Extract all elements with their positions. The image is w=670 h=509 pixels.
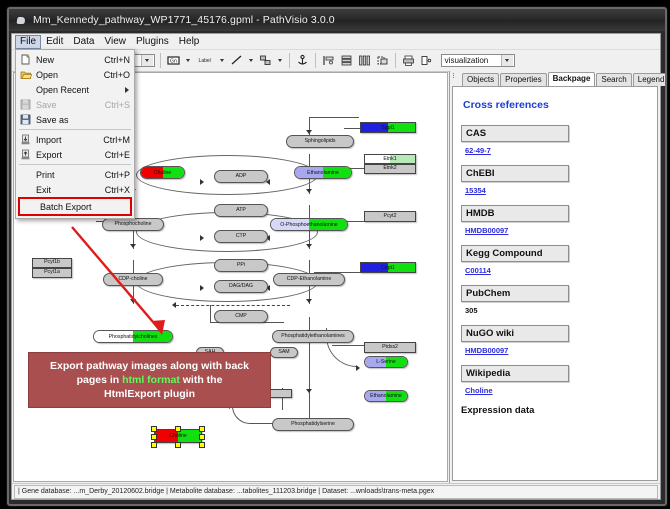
xref-source-hmdb: HMDB	[461, 205, 569, 222]
node-label: Sphingolipids	[305, 139, 336, 144]
menu-item-label: Open Recent	[33, 85, 125, 95]
node-label: ADP	[236, 174, 247, 179]
menu-item-import[interactable]: Import Ctrl+M	[16, 132, 134, 147]
svg-text:Gn: Gn	[170, 59, 177, 65]
shape-icon[interactable]	[258, 53, 273, 68]
node-label: CMP	[235, 314, 247, 319]
menu-item-label: Batch Export	[37, 202, 128, 212]
xref-value-kegg[interactable]: C00114	[465, 266, 649, 275]
xref-source-kegg: Kegg Compound	[461, 245, 569, 262]
node-label: Cept1	[361, 263, 415, 272]
stack-icon[interactable]	[339, 53, 354, 68]
menu-separator	[19, 164, 131, 165]
menu-item-label: Export	[33, 150, 99, 160]
menu-item-new[interactable]: New Ctrl+N	[16, 52, 134, 67]
xref-link-hmdb[interactable]: HMDB00097	[465, 226, 508, 235]
import-icon	[18, 133, 33, 146]
node-choline[interactable]: Choline	[140, 166, 185, 179]
annotation-callout: Export pathway images along with back pa…	[28, 352, 271, 408]
menu-file[interactable]: File	[15, 35, 41, 49]
menu-item-label: Print	[33, 170, 99, 180]
menu-item-open-recent[interactable]: Open Recent	[16, 82, 134, 97]
menu-item-accel: Ctrl+S	[99, 100, 130, 110]
node-label: Pcyt1a	[44, 270, 60, 275]
xref-link-cas[interactable]: 62-49-7	[465, 146, 491, 155]
callout-line-2-post: with the	[180, 374, 223, 386]
node-label: ATP	[236, 208, 246, 213]
distribute-icon[interactable]	[357, 53, 372, 68]
tab-objects[interactable]: Objects	[462, 73, 499, 86]
node-o-phosphoethanolamine[interactable]: O-Phosphoethanolamine	[270, 218, 348, 231]
toolbar-separator	[160, 53, 161, 68]
node-l-serine[interactable]: L-Serine	[364, 356, 408, 368]
visualization-value: visualization	[445, 56, 489, 65]
xref-link-nugo[interactable]: HMDB00097	[465, 346, 508, 355]
xref-value-hmdb[interactable]: HMDB00097	[465, 226, 649, 235]
node-ctp[interactable]: CTP	[214, 230, 268, 243]
menu-help[interactable]: Help	[174, 35, 205, 49]
callout-line-2: pages in html format with the	[77, 373, 223, 387]
node-pcyt2[interactable]: Pcyt2	[364, 211, 416, 222]
menu-item-export[interactable]: Export Ctrl+E	[16, 147, 134, 162]
tab-properties[interactable]: Properties	[500, 73, 546, 86]
node-label: Phosphatidylethanolamines	[281, 334, 344, 339]
xref-source-nugo: NuGO wiki	[461, 325, 569, 342]
menu-view[interactable]: View	[99, 35, 131, 49]
node-cdp-ethanolamine[interactable]: CDP-Ethanolamine	[273, 273, 345, 286]
window-title: Mm_Kennedy_pathway_WP1771_45176.gpml - P…	[33, 14, 335, 26]
menu-item-batch-export[interactable]: Batch Export	[18, 197, 132, 216]
menu-edit[interactable]: Edit	[41, 35, 68, 49]
node-grey-marker[interactable]	[270, 389, 292, 398]
align-icon[interactable]	[321, 53, 336, 68]
callout-line-3: HtmlExport plugin	[104, 387, 195, 401]
menu-separator	[19, 129, 131, 130]
node-dag[interactable]: DAG/DAG	[214, 280, 268, 293]
node-sam[interactable]: SAM	[270, 347, 298, 358]
visualization-combobox[interactable]: visualization	[441, 54, 515, 67]
toolbar-separator	[289, 53, 290, 68]
node-ethanolamine-bottom[interactable]: Ethanolamine	[364, 390, 408, 402]
node-ptdss2[interactable]: Ptdss2	[364, 342, 416, 353]
window-titlebar: Mm_Kennedy_pathway_WP1771_45176.gpml - P…	[9, 9, 665, 31]
statusbar-text: | Gene database: ...m_Derby_20120602.bri…	[14, 485, 658, 499]
panel-grip[interactable]	[453, 72, 458, 83]
print-toolbar-icon[interactable]	[401, 53, 416, 68]
node-label: Phosphatidylserine	[291, 422, 335, 427]
selection-handle	[151, 442, 157, 448]
menu-item-open[interactable]: Open Ctrl+O	[16, 67, 134, 82]
menu-item-accel: Ctrl+E	[99, 150, 130, 160]
exit-icon	[18, 183, 33, 196]
application-body: File Edit Data View Plugins Help Zoom: 1…	[11, 33, 661, 500]
chevron-down-icon	[141, 55, 153, 66]
node-label: Sgpl1	[361, 123, 415, 132]
datanode-icon[interactable]: Gn	[166, 53, 181, 68]
callout-line-1: Export pathway images along with back	[50, 359, 249, 373]
file-menu-dropdown[interactable]: New Ctrl+N Open Ctrl+O Open Recent	[15, 49, 135, 219]
node-etnk1[interactable]: Etnk1	[364, 154, 416, 164]
node-label: Etnk2	[383, 166, 396, 171]
menu-data[interactable]: Data	[68, 35, 99, 49]
chevron-down-icon	[501, 55, 513, 66]
expression-data-heading: Expression data	[461, 405, 649, 416]
node-choline-selected[interactable]: Choline	[154, 429, 202, 443]
xref-value-pubchem: 305	[465, 306, 649, 315]
application-window: Mm_Kennedy_pathway_WP1771_45176.gpml - P…	[7, 7, 667, 506]
xref-source-chebi: ChEBI	[461, 165, 569, 182]
xref-link-kegg[interactable]: C00114	[465, 266, 491, 275]
node-label: PPi	[237, 263, 245, 268]
node-label: Etnk1	[365, 155, 415, 163]
menu-plugins[interactable]: Plugins	[131, 35, 174, 49]
shape-dropdown-icon[interactable]	[276, 53, 284, 68]
menu-item-exit[interactable]: Exit Ctrl+X	[16, 182, 134, 197]
menu-item-label: Save	[33, 100, 99, 110]
blank-icon	[22, 200, 37, 213]
node-label: Ethanolamine	[365, 391, 407, 401]
toolbar-separator	[395, 53, 396, 68]
menu-item-save-as[interactable]: Save as	[16, 112, 134, 127]
menu-item-accel: Ctrl+X	[99, 185, 130, 195]
label-icon[interactable]: Label	[195, 53, 215, 68]
legend-icon[interactable]	[419, 53, 434, 68]
side-panel: Objects Properties Backpage Search Legen…	[449, 71, 660, 483]
xref-source-cas: CAS	[461, 125, 569, 142]
backpage-content: Cross references CAS 62-49-7 ChEBI 15354…	[452, 86, 658, 481]
line-dropdown-icon[interactable]	[247, 53, 255, 68]
xref-source-wikipedia: Wikipedia	[461, 365, 569, 382]
export-icon	[18, 148, 33, 161]
chevron-right-icon	[125, 87, 129, 93]
annotation-arrow	[66, 221, 176, 346]
node-sphingolipids[interactable]: Sphingolipids	[286, 135, 354, 148]
print-icon	[18, 168, 33, 181]
side-panel-tabstrip: Objects Properties Backpage Search Legen…	[450, 71, 660, 86]
xref-value-cas[interactable]: 62-49-7	[465, 146, 649, 155]
node-atp[interactable]: ATP	[214, 204, 268, 217]
node-etnk2[interactable]: Etnk2	[364, 164, 416, 174]
node-label: CDP-Ethanolamine	[287, 277, 331, 282]
menu-item-accel: Ctrl+O	[98, 70, 130, 80]
node-ppi[interactable]: PPi	[214, 259, 268, 272]
xref-link-wikipedia[interactable]: Choline	[465, 386, 493, 395]
toolbar-separator	[315, 53, 316, 68]
tab-backpage[interactable]: Backpage	[548, 72, 596, 86]
blank-icon	[18, 83, 33, 96]
node-label: Ptdss2	[382, 345, 398, 350]
node-ethanolamine-top[interactable]: Ethanolamine	[294, 166, 352, 179]
node-label: Ethanolamine	[295, 167, 351, 178]
screenshot-root: Mm_Kennedy_pathway_WP1771_45176.gpml - P…	[0, 0, 670, 509]
node-phosphatidylethanolamines[interactable]: Phosphatidylethanolamines	[272, 330, 354, 343]
xref-value-wikipedia[interactable]: Choline	[465, 386, 649, 395]
menu-item-label: Import	[33, 135, 97, 145]
menu-item-accel: Ctrl+M	[97, 135, 130, 145]
node-label: Pcyt2	[384, 214, 397, 219]
selection-handle	[175, 442, 181, 448]
node-label: Choline	[155, 430, 201, 442]
menu-item-label: Open	[33, 70, 98, 80]
statusbar: | Gene database: ...m_Derby_20120602.bri…	[12, 483, 660, 499]
menu-item-accel: Ctrl+N	[98, 55, 130, 65]
menu-item-label: New	[33, 55, 98, 65]
line-icon[interactable]	[229, 53, 244, 68]
menu-item-accel: Ctrl+P	[99, 170, 130, 180]
anchor-icon[interactable]	[295, 53, 310, 68]
menu-item-label: Exit	[33, 185, 99, 195]
menu-item-label: Save as	[33, 115, 124, 125]
node-phosphatidylserine[interactable]: Phosphatidylserine	[272, 418, 354, 431]
group-icon[interactable]	[375, 53, 390, 68]
xref-source-pubchem: PubChem	[461, 285, 569, 302]
callout-highlight: html format	[122, 374, 180, 386]
save-icon	[18, 98, 33, 111]
node-cmp[interactable]: CMP	[214, 310, 268, 323]
callout-line-2-pre: pages in	[77, 374, 123, 386]
node-adp[interactable]: ADP	[214, 170, 268, 183]
tab-legend[interactable]: Legend	[633, 73, 667, 86]
node-label: Pcyt1b	[44, 260, 60, 265]
save-as-icon	[18, 113, 33, 126]
xref-link-chebi[interactable]: 15354	[465, 186, 486, 195]
node-label: L-Serine	[365, 357, 407, 367]
datanode-dropdown-icon[interactable]	[184, 53, 192, 68]
node-sgpl1[interactable]: Sgpl1	[360, 122, 416, 133]
node-label: CTP	[236, 234, 246, 239]
folder-open-icon	[18, 68, 33, 81]
node-label: Choline	[141, 167, 184, 178]
selection-handle	[199, 442, 205, 448]
menu-item-save: Save Ctrl+S	[16, 97, 134, 112]
new-document-icon	[18, 53, 33, 66]
xref-value-chebi[interactable]: 15354	[465, 186, 649, 195]
app-icon	[15, 14, 28, 27]
tab-search[interactable]: Search	[596, 73, 631, 86]
menu-item-print[interactable]: Print Ctrl+P	[16, 167, 134, 182]
menubar: File Edit Data View Plugins Help	[12, 34, 660, 50]
cross-references-heading: Cross references	[463, 99, 649, 111]
xref-value-nugo[interactable]: HMDB00097	[465, 346, 649, 355]
node-cept1[interactable]: Cept1	[360, 262, 416, 273]
node-label: O-Phosphoethanolamine	[271, 219, 347, 230]
label-button-text: Label	[199, 58, 211, 64]
node-label: SAM	[278, 350, 289, 355]
node-label: DAG/DAG	[229, 284, 253, 289]
label-dropdown-icon[interactable]	[218, 53, 226, 68]
